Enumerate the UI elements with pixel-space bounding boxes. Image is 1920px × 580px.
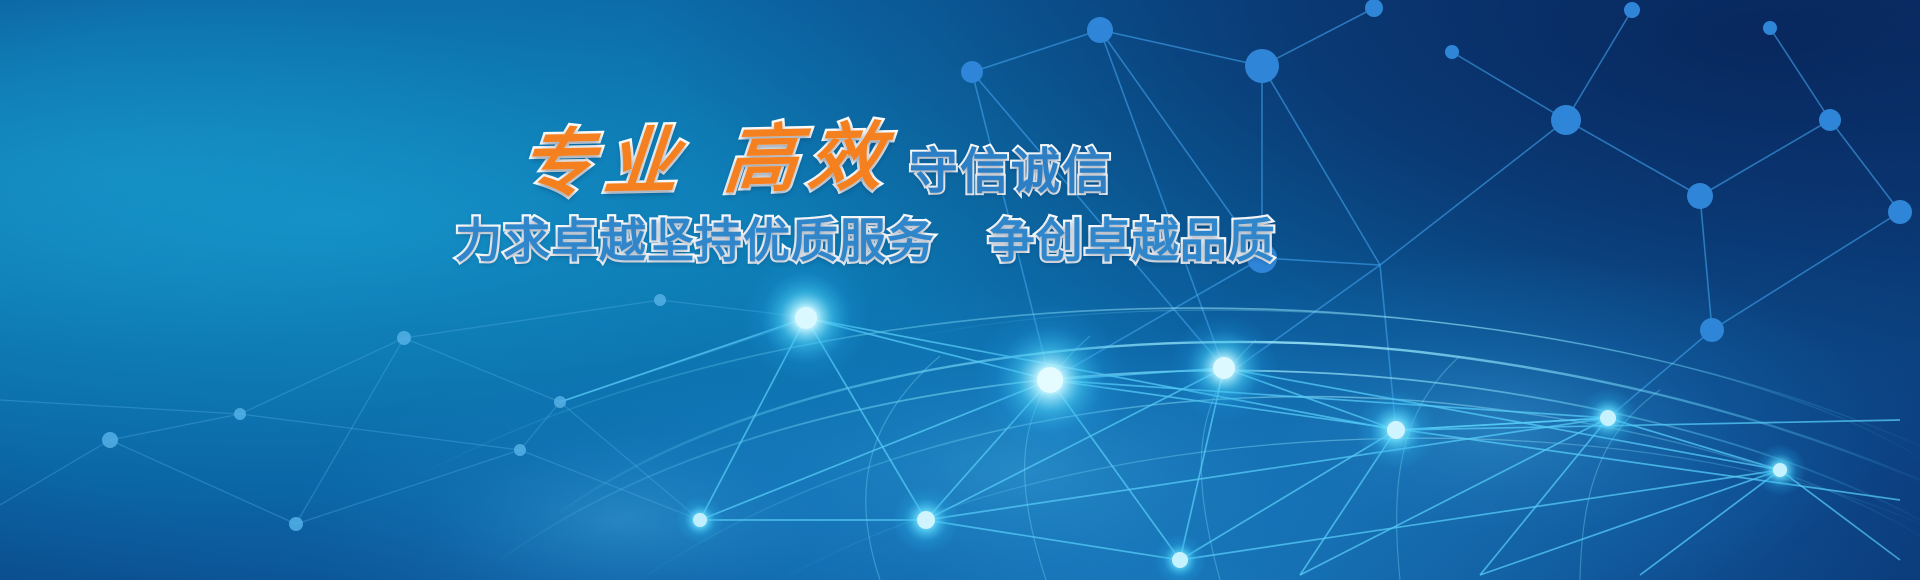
background-vignette [0,0,1920,580]
headline-kicker: 专业 高效 [517,120,902,202]
hero-banner: 专业 高效 守信诚信 力求卓越坚持优质服务 争创卓越品质 [0,0,1920,580]
headline-block: 专业 高效 守信诚信 力求卓越坚持优质服务 争创卓越品质 [455,128,1175,268]
headline-line-1: 专业 高效 守信诚信 [455,128,1175,202]
headline-subline-left: 力求卓越坚持优质服务 [455,214,935,269]
headline-line-2: 力求卓越坚持优质服务 争创卓越品质 [455,216,1175,268]
headline-kicker-sub: 守信诚信 [909,147,1113,196]
headline-subline-right: 争创卓越品质 [988,214,1276,269]
